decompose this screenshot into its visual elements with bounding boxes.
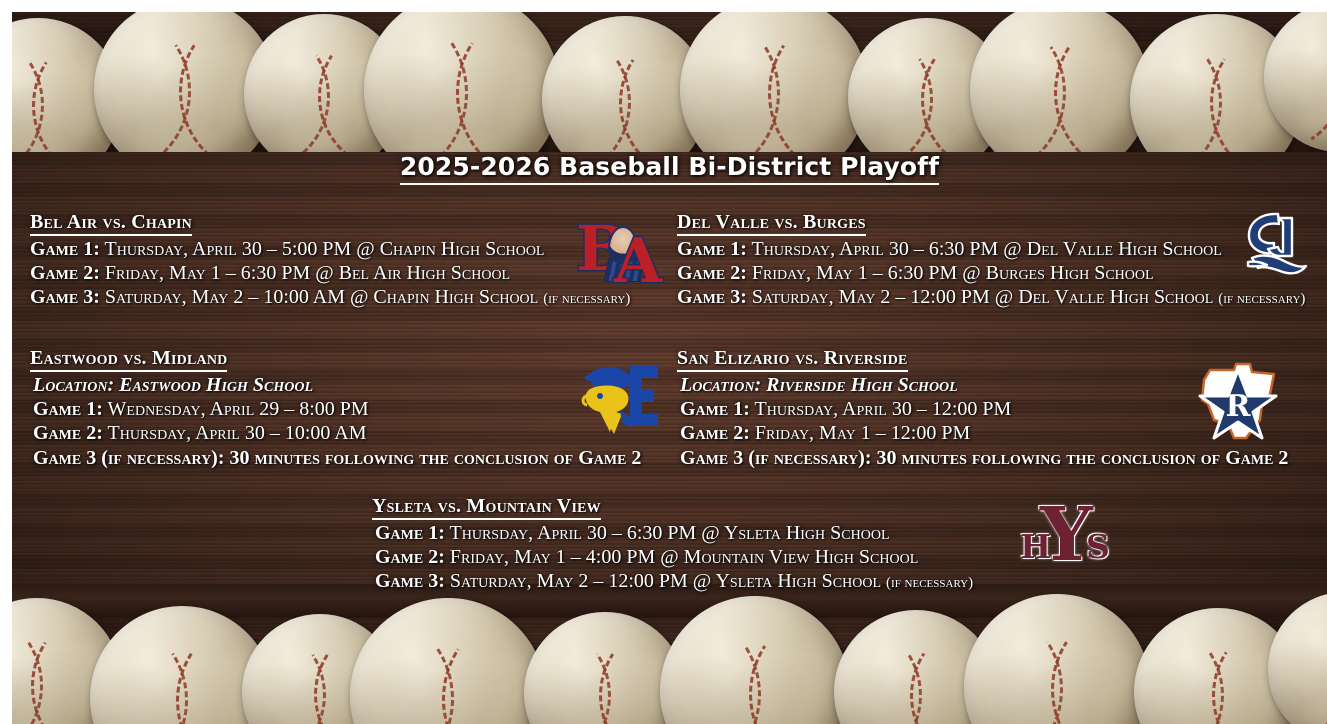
playoff-poster: 2025-2026 Baseball Bi-District Playoff B… xyxy=(0,0,1327,724)
game-detail: Saturday, May 2 – 12:00 PM @ Ysleta High… xyxy=(450,570,881,592)
game-line: Game 2: Friday, May 1 – 6:30 PM @ Bel Ai… xyxy=(30,262,630,284)
game-line: Game 3: Saturday, May 2 – 10:00 AM @ Cha… xyxy=(30,286,630,308)
baseball-border-bottom xyxy=(12,584,1327,724)
game-line: Game 1: Thursday, April 30 – 5:00 PM @ C… xyxy=(30,238,630,260)
if-necessary-note: (if necessary) xyxy=(886,575,973,591)
page-title-text: 2025-2026 Baseball Bi-District Playoff xyxy=(400,152,939,185)
game-detail: Friday, May 1 – 4:00 PM @ Mountain View … xyxy=(450,546,918,568)
baseball xyxy=(964,594,1150,724)
game-line: Game 1: Thursday, April 30 – 6:30 PM @ D… xyxy=(677,238,1305,260)
game-line: Game 1: Thursday, April 30 – 6:30 PM @ Y… xyxy=(375,522,973,544)
baseball-border-top xyxy=(12,12,1327,152)
bel-air-logo: B A xyxy=(576,214,662,290)
baseball xyxy=(680,12,868,152)
bel-air-letter-a: A xyxy=(614,230,662,292)
baseball xyxy=(1264,12,1327,152)
location-line: Location: Eastwood High School xyxy=(33,374,641,396)
game-label: Game 2: xyxy=(33,422,103,444)
game-detail: Saturday, May 2 – 12:00 PM @ Del Valle H… xyxy=(752,286,1213,308)
game-label: Game 2: xyxy=(375,546,445,568)
game-label-special: Game 3 (if necessary): 30 minutes follow… xyxy=(680,447,1288,469)
matchup-ysleta-mountain-view: Ysleta vs. Mountain View Game 1: Thursda… xyxy=(372,496,973,593)
game-label: Game 3: xyxy=(30,286,100,308)
matchup-heading: Bel Air vs. Chapin xyxy=(30,212,192,236)
matchup-bel-air-chapin: Bel Air vs. Chapin Game 1: Thursday, Apr… xyxy=(30,212,630,309)
baseball xyxy=(970,12,1150,152)
eastwood-logo xyxy=(570,360,662,436)
baseball xyxy=(1268,592,1327,724)
game-line: Game 2: Friday, May 1 – 6:30 PM @ Burges… xyxy=(677,262,1305,284)
game-detail: Thursday, April 30 – 5:00 PM @ Chapin Hi… xyxy=(105,238,545,260)
game-line: Game 3 (if necessary): 30 minutes follow… xyxy=(680,447,1288,469)
game-label: Game 2: xyxy=(30,262,100,284)
game-detail: Thursday, April 30 – 10:00 AM xyxy=(108,422,367,444)
riverside-texas-star-icon: R xyxy=(1194,360,1282,446)
game-label: Game 1: xyxy=(30,238,100,260)
page-title: 2025-2026 Baseball Bi-District Playoff xyxy=(12,152,1327,181)
game-line: Game 2: Friday, May 1 – 4:00 PM @ Mounta… xyxy=(375,546,973,568)
baseball xyxy=(660,596,850,724)
game-line: Game 3 (if necessary): 30 minutes follow… xyxy=(33,447,641,469)
matchup-heading: Ysleta vs. Mountain View xyxy=(372,496,601,520)
game-detail: Thursday, April 30 – 6:30 PM @ Del Valle… xyxy=(752,238,1222,260)
matchup-heading: Eastwood vs. Midland xyxy=(30,348,227,372)
game-label: Game 2: xyxy=(677,262,747,284)
game-detail: Friday, May 1 – 12:00 PM xyxy=(755,422,970,444)
game-label: Game 1: xyxy=(375,522,445,544)
riverside-letter-r: R xyxy=(1226,389,1252,424)
game-label: Game 1: xyxy=(680,398,750,420)
game-label-special: Game 3 (if necessary): 30 minutes follow… xyxy=(33,447,641,469)
baseball xyxy=(364,12,560,152)
game-line: Game 1: Wednesday, April 29 – 8:00 PM xyxy=(33,398,641,420)
if-necessary-note: (if necessary) xyxy=(1218,291,1305,307)
game-detail: Thursday, April 30 – 6:30 PM @ Ysleta Hi… xyxy=(450,522,890,544)
matchup-eastwood-midland: Eastwood vs. Midland Location: Eastwood … xyxy=(30,348,641,469)
baseball xyxy=(350,598,546,724)
game-line: Game 2: Thursday, April 30 – 10:00 AM xyxy=(33,422,641,444)
matchup-heading: San Elizario vs. Riverside xyxy=(677,348,908,372)
riverside-logo: R xyxy=(1194,360,1282,446)
game-label: Game 3: xyxy=(375,570,445,592)
ysleta-letter-s: S xyxy=(1086,530,1110,563)
burges-mustang-icon xyxy=(1234,210,1312,282)
game-label: Game 1: xyxy=(33,398,103,420)
game-detail: Thursday, April 30 – 12:00 PM xyxy=(755,398,1012,420)
game-label: Game 2: xyxy=(680,422,750,444)
wood-background: 2025-2026 Baseball Bi-District Playoff B… xyxy=(12,12,1327,724)
eastwood-trooper-icon xyxy=(570,360,662,436)
ysleta-logo: Y H S xyxy=(1020,498,1114,574)
game-detail: Saturday, May 2 – 10:00 AM @ Chapin High… xyxy=(105,286,538,308)
matchup-del-valle-burges: Del Valle vs. Burges Game 1: Thursday, A… xyxy=(677,212,1305,309)
game-line: Game 3: Saturday, May 2 – 12:00 PM @ Del… xyxy=(677,286,1305,308)
burges-logo xyxy=(1234,210,1312,282)
game-detail: Wednesday, April 29 – 8:00 PM xyxy=(108,398,369,420)
ysleta-letter-h: H xyxy=(1020,530,1051,563)
game-label: Game 3: xyxy=(677,286,747,308)
game-label: Game 1: xyxy=(677,238,747,260)
game-detail: Friday, May 1 – 6:30 PM @ Bel Air High S… xyxy=(105,262,510,284)
game-detail: Friday, May 1 – 6:30 PM @ Burges High Sc… xyxy=(752,262,1154,284)
game-line: Game 3: Saturday, May 2 – 12:00 PM @ Ysl… xyxy=(375,570,973,592)
matchup-heading: Del Valle vs. Burges xyxy=(677,212,866,236)
